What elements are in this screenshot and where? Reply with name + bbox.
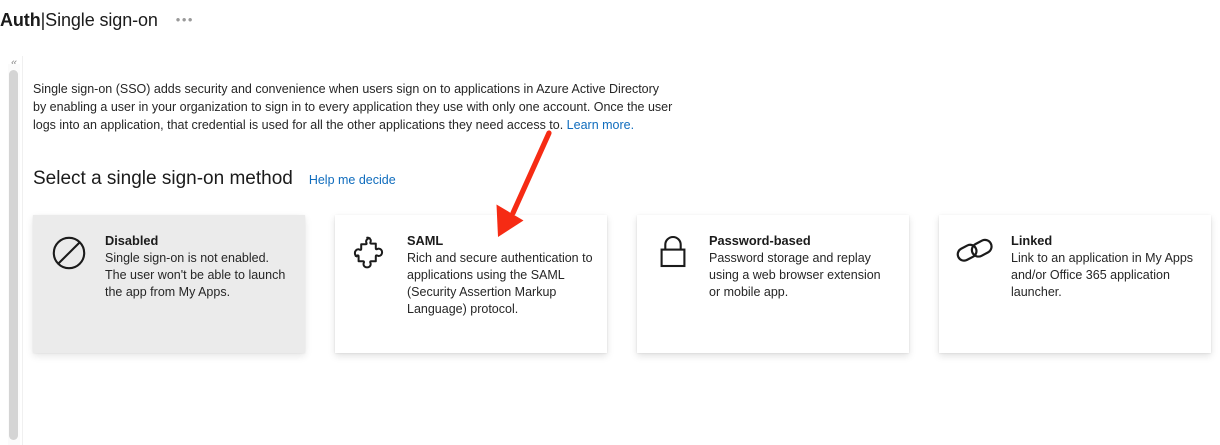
no-entry-circle-slash-icon <box>47 232 91 276</box>
card-description: Password storage and replay using a web … <box>709 250 895 301</box>
page-header: Auth|Single sign-on ••• <box>0 0 1220 40</box>
sso-method-card-password-based[interactable]: Password-based Password storage and repl… <box>637 215 909 353</box>
page-title: Auth|Single sign-on <box>0 9 158 31</box>
puzzle-piece-icon <box>349 232 393 276</box>
card-description: Single sign-on is not enabled. The user … <box>105 250 291 301</box>
card-title: Password-based <box>709 232 895 249</box>
card-body: Disabled Single sign-on is not enabled. … <box>105 232 291 353</box>
sso-method-card-list: Disabled Single sign-on is not enabled. … <box>33 215 1213 355</box>
card-body: Linked Link to an application in My Apps… <box>1011 232 1197 353</box>
chain-link-icon <box>953 232 997 276</box>
page-title-section: Single sign-on <box>45 10 158 30</box>
learn-more-link[interactable]: Learn more. <box>567 118 634 132</box>
card-body: SAML Rich and secure authentication to a… <box>407 232 593 353</box>
padlock-icon <box>651 232 695 276</box>
card-description: Rich and secure authentication to applic… <box>407 250 593 318</box>
card-title: Linked <box>1011 232 1197 249</box>
help-me-decide-link[interactable]: Help me decide <box>309 171 396 189</box>
card-body: Password-based Password storage and repl… <box>709 232 895 353</box>
card-title: Disabled <box>105 232 291 249</box>
sso-method-card-linked[interactable]: Linked Link to an application in My Apps… <box>939 215 1211 353</box>
sso-method-card-saml[interactable]: SAML Rich and secure authentication to a… <box>335 215 607 353</box>
card-description: Link to an application in My Apps and/or… <box>1011 250 1197 301</box>
panel-divider <box>22 56 23 445</box>
ellipsis-icon[interactable]: ••• <box>174 10 196 30</box>
vertical-scrollbar-thumb[interactable] <box>9 70 18 440</box>
intro-paragraph: Single sign-on (SSO) adds security and c… <box>33 80 673 134</box>
sso-method-card-disabled[interactable]: Disabled Single sign-on is not enabled. … <box>33 215 305 353</box>
section-heading-row: Select a single sign-on method Help me d… <box>33 167 396 191</box>
single-sign-on-page: Auth|Single sign-on ••• « Single sign-on… <box>0 0 1220 445</box>
section-title: Select a single sign-on method <box>33 167 293 191</box>
vertical-scrollbar-track[interactable] <box>8 64 20 445</box>
page-title-app: Auth <box>0 10 41 30</box>
card-title: SAML <box>407 232 593 249</box>
